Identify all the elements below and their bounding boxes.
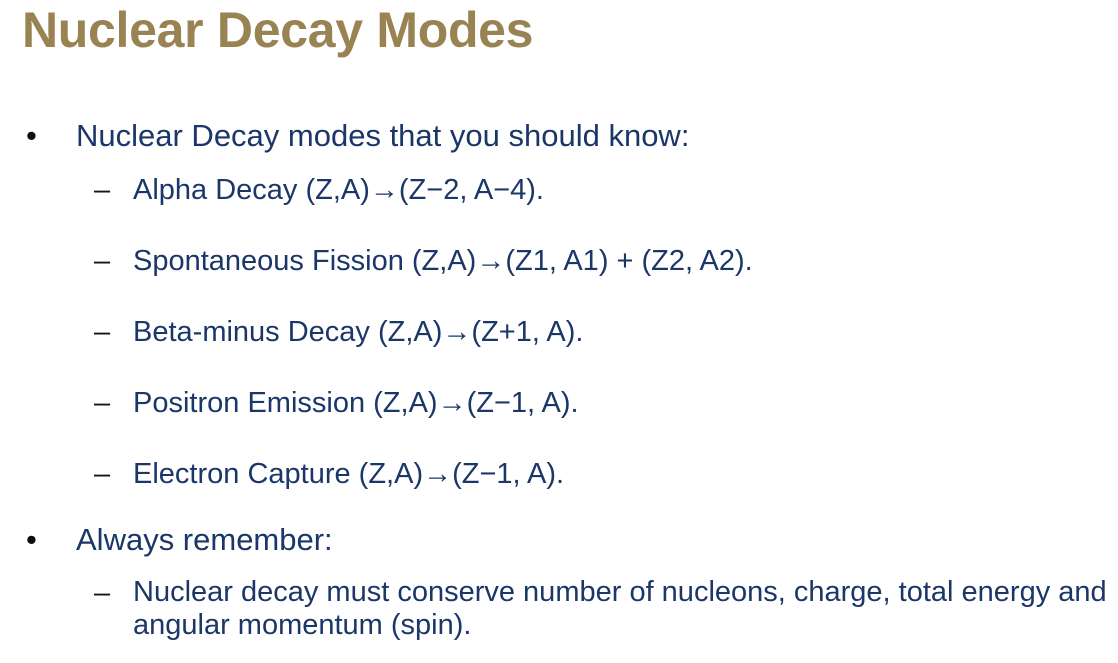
- bullet-level2-label: Positron Emission (Z,A)→(Z−1, A).: [133, 387, 579, 419]
- bullet-level2-label: Spontaneous Fission (Z,A)→(Z1, A1) + (Z2…: [133, 245, 753, 277]
- slide-canvas: Nuclear Decay Modes • Nuclear Decay mode…: [0, 0, 1118, 663]
- bullet-dash-icon: –: [94, 576, 116, 610]
- bullet-level1-decay-modes: • Nuclear Decay modes that you should kn…: [0, 118, 1118, 155]
- bullet-dot-icon: •: [26, 118, 40, 155]
- spacer: [0, 278, 1118, 315]
- bullet-level2-alpha-decay: – Alpha Decay (Z,A)→(Z−2, A−4).: [0, 173, 1118, 207]
- spacer: [0, 420, 1118, 457]
- spacer: [0, 492, 1118, 522]
- bullet-level2-label: Alpha Decay (Z,A)→(Z−2, A−4).: [133, 174, 544, 206]
- bullet-level2-label: Beta-minus Decay (Z,A)→(Z+1, A).: [133, 316, 583, 348]
- spacer: [0, 349, 1118, 386]
- bullet-dash-icon: –: [94, 173, 116, 207]
- spacer: [0, 155, 1118, 173]
- bullet-level2-beta-minus-decay: – Beta-minus Decay (Z,A)→(Z+1, A).: [0, 315, 1118, 349]
- spacer: [0, 207, 1118, 244]
- slide-body: • Nuclear Decay modes that you should kn…: [0, 118, 1118, 642]
- bullet-level2-electron-capture: – Electron Capture (Z,A)→(Z−1, A).: [0, 457, 1118, 491]
- spacer: [0, 558, 1118, 576]
- bullet-level2-conservation-rule: – Nuclear decay must conserve number of …: [0, 576, 1118, 642]
- bullet-dot-icon: •: [26, 522, 40, 559]
- bullet-level2-positron-emission: – Positron Emission (Z,A)→(Z−1, A).: [0, 386, 1118, 420]
- page-title: Nuclear Decay Modes: [22, 2, 533, 60]
- bullet-dash-icon: –: [94, 244, 116, 278]
- bullet-dash-icon: –: [94, 457, 116, 491]
- bullet-dash-icon: –: [94, 315, 116, 349]
- bullet-level2-label: Nuclear decay must conserve number of nu…: [133, 576, 1107, 641]
- bullet-level2-spontaneous-fission: – Spontaneous Fission (Z,A)→(Z1, A1) + (…: [0, 244, 1118, 278]
- bullet-level2-label: Electron Capture (Z,A)→(Z−1, A).: [133, 458, 564, 490]
- bullet-level1-label: Always remember:: [76, 522, 333, 557]
- bullet-level1-always-remember: • Always remember:: [0, 522, 1118, 559]
- bullet-dash-icon: –: [94, 386, 116, 420]
- bullet-level1-label: Nuclear Decay modes that you should know…: [76, 118, 689, 153]
